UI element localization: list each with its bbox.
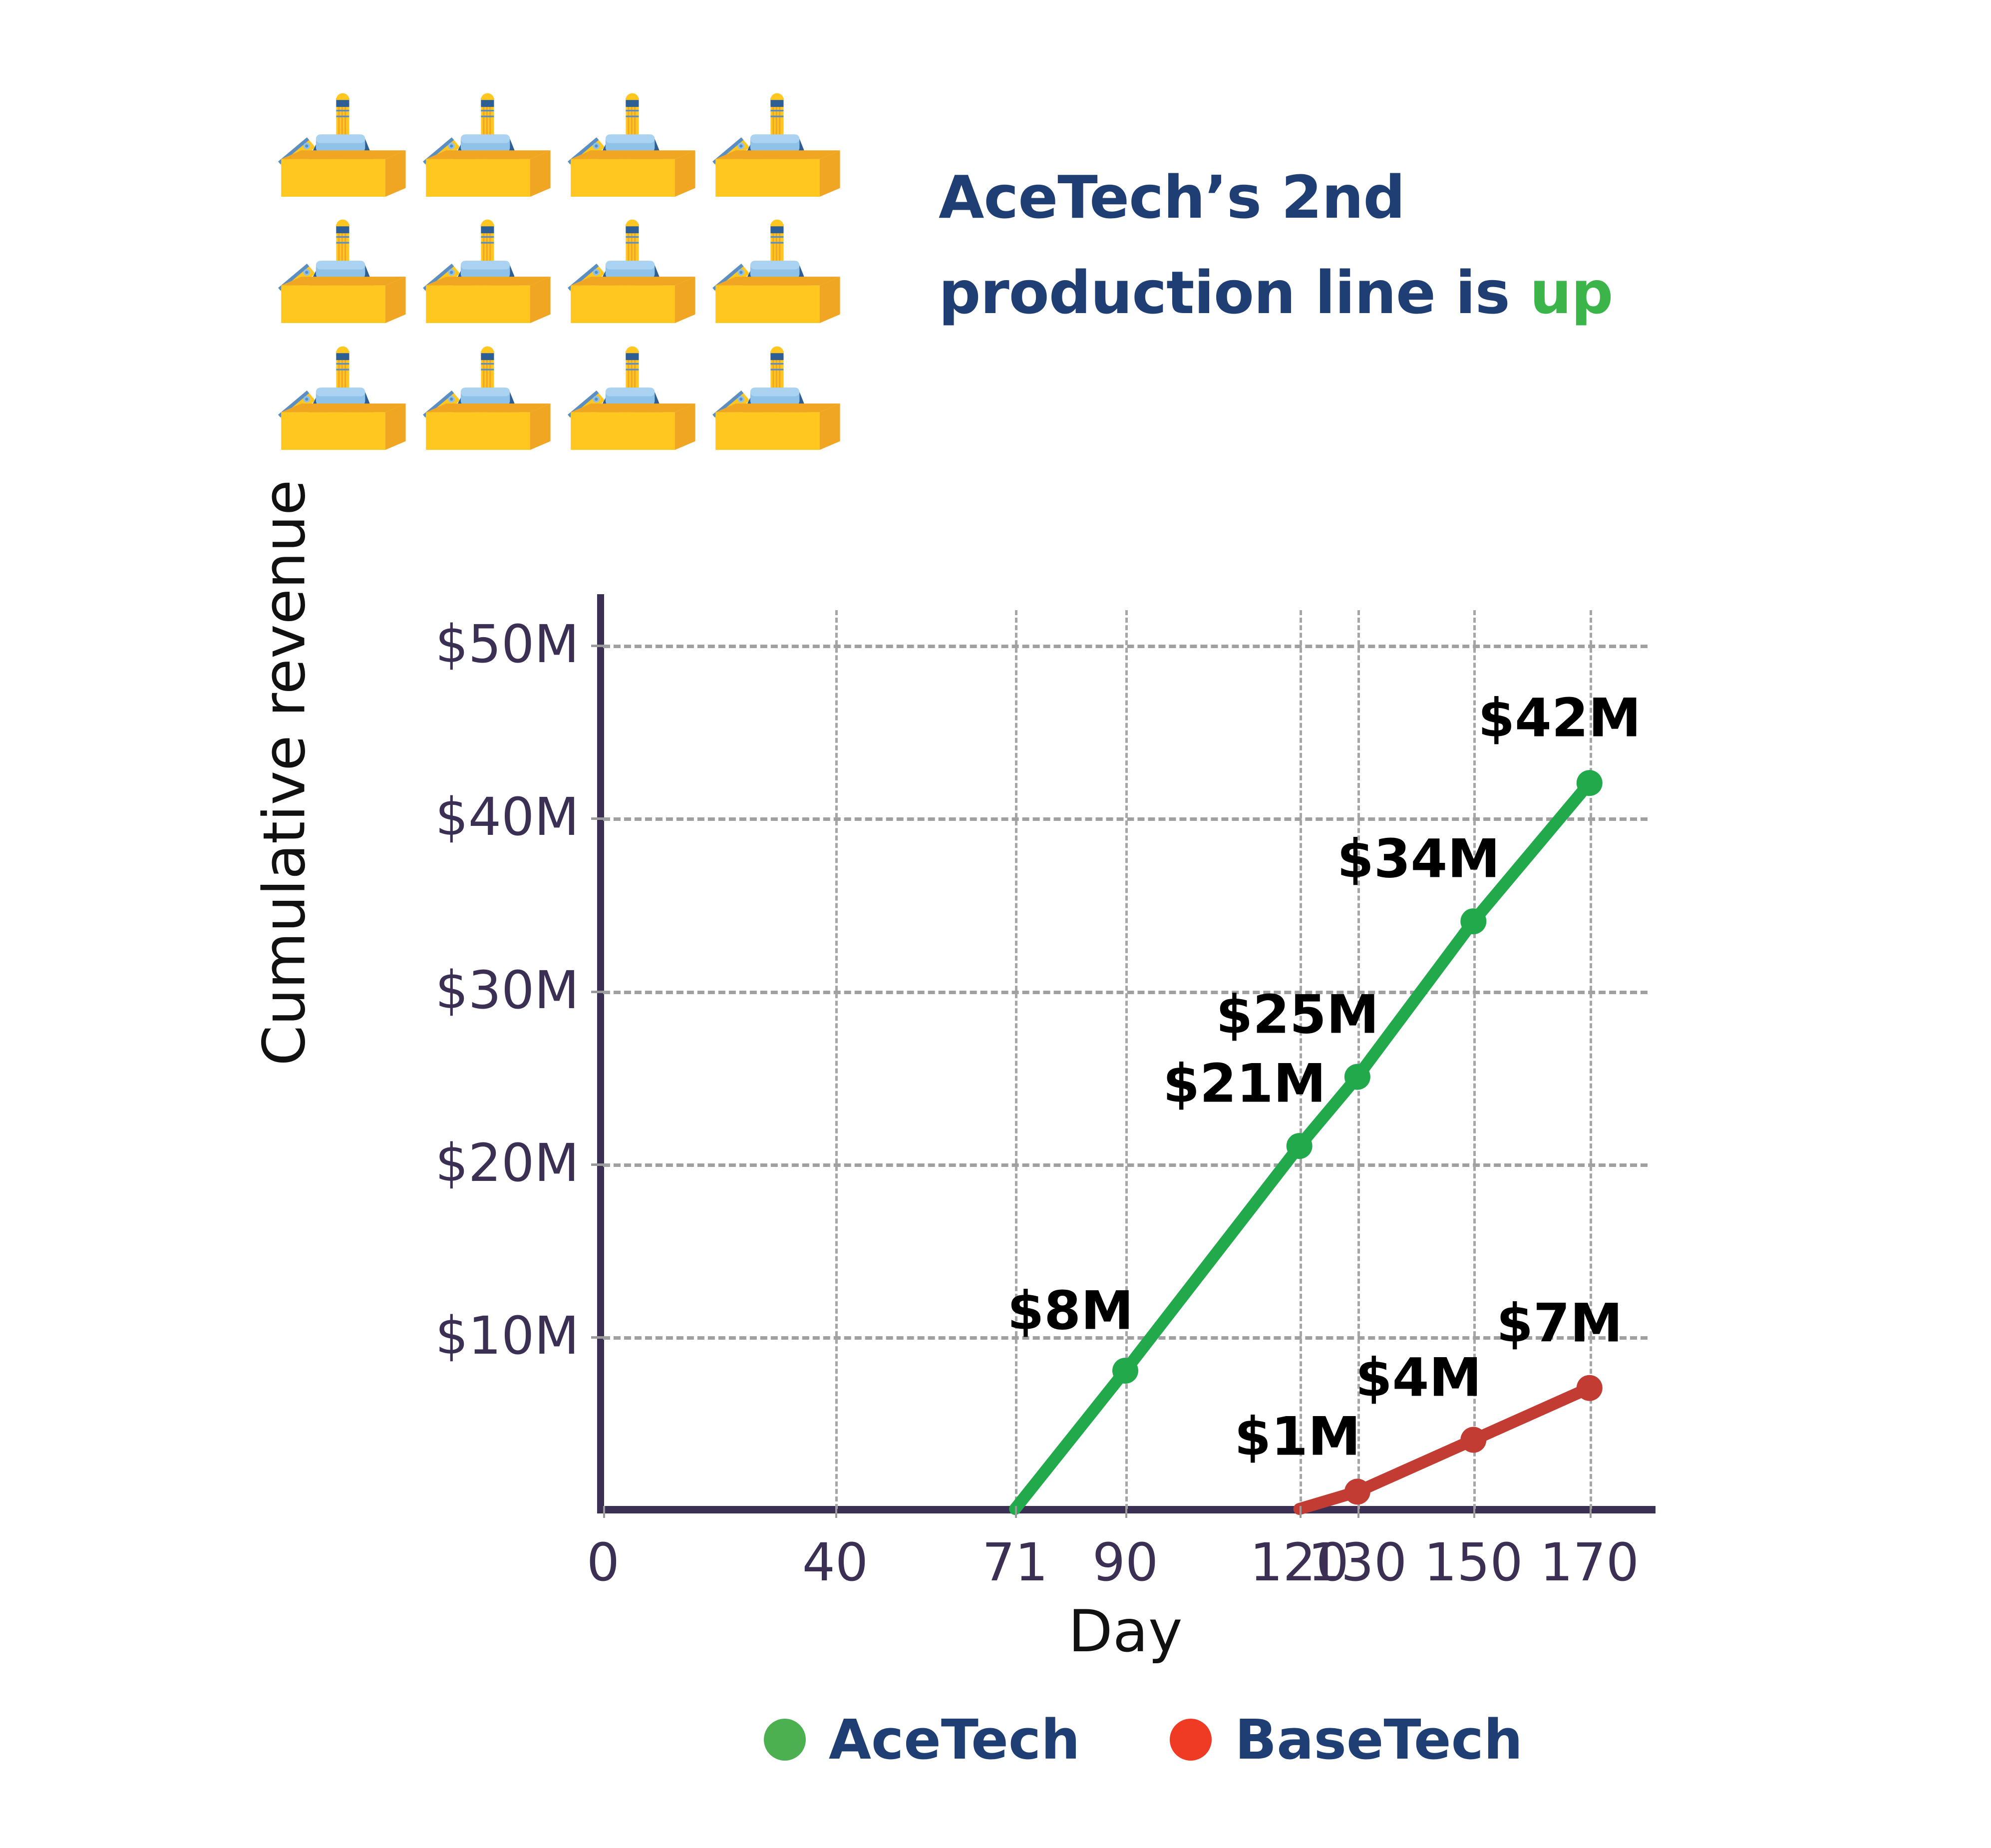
legend-label: BaseTech	[1235, 1708, 1523, 1772]
data-point-label: $4M	[1355, 1347, 1482, 1408]
x-axis-tick-label: 0	[587, 1532, 620, 1593]
chart-legend: AceTechBaseTech	[594, 1708, 1692, 1772]
y-axis-tick	[591, 1336, 604, 1339]
x-axis-tick	[1473, 1506, 1475, 1518]
x-axis-tick	[1357, 1506, 1359, 1518]
y-axis-tick-label: $30M	[330, 960, 579, 1021]
x-axis-tick	[1590, 1506, 1592, 1518]
x-axis-tick	[603, 1506, 605, 1518]
y-axis-title: Cumulative revenue	[251, 443, 319, 1103]
data-point-label: $21M	[1163, 1053, 1326, 1114]
data-point-label: $34M	[1337, 828, 1500, 890]
data-point-marker	[1344, 1064, 1370, 1090]
data-point-marker	[1577, 770, 1603, 796]
data-point-label: $42M	[1478, 688, 1641, 749]
y-axis-tick-label: $50M	[330, 614, 579, 675]
x-axis-tick-label: 150	[1424, 1532, 1523, 1593]
x-axis-tick-label: 90	[1092, 1532, 1158, 1593]
data-point-marker	[1112, 1358, 1138, 1384]
data-point-marker	[1344, 1478, 1370, 1504]
x-axis-tick	[835, 1506, 837, 1518]
y-axis-tick	[591, 991, 604, 993]
x-axis-tick-label: 71	[982, 1532, 1048, 1593]
line-chart: Cumulative revenue Day $10M$20M$30M$40M$…	[0, 0, 1991, 1848]
legend-item-basetech[interactable]: BaseTech	[1170, 1708, 1523, 1772]
data-point-label: $7M	[1496, 1292, 1623, 1354]
legend-item-acetech[interactable]: AceTech	[764, 1708, 1080, 1772]
data-point-label: $25M	[1216, 984, 1379, 1045]
data-point-marker	[1577, 1375, 1603, 1401]
data-point-marker	[1460, 1427, 1486, 1453]
y-axis-tick	[591, 1163, 604, 1166]
legend-dot-icon	[1170, 1719, 1212, 1761]
x-axis-title: Day	[603, 1598, 1648, 1665]
data-point-marker	[1460, 908, 1486, 934]
y-axis-tick	[591, 645, 604, 647]
x-axis-tick-label: 40	[802, 1532, 868, 1593]
y-axis-tick-label: $40M	[330, 786, 579, 847]
x-axis-tick-label: 130	[1308, 1532, 1407, 1593]
x-axis-tick	[1125, 1506, 1127, 1518]
x-axis-tick-label: 170	[1540, 1532, 1640, 1593]
y-axis-tick-label: $10M	[330, 1305, 579, 1366]
x-axis-tick	[1300, 1506, 1302, 1518]
y-axis-tick	[591, 817, 604, 820]
y-axis-tick-label: $20M	[330, 1132, 579, 1193]
data-point-marker	[1287, 1133, 1313, 1159]
legend-label: AceTech	[829, 1708, 1080, 1772]
legend-dot-icon	[764, 1719, 806, 1761]
data-point-label: $1M	[1234, 1406, 1360, 1468]
x-axis-tick	[1015, 1506, 1017, 1518]
data-point-label: $8M	[1007, 1280, 1134, 1342]
